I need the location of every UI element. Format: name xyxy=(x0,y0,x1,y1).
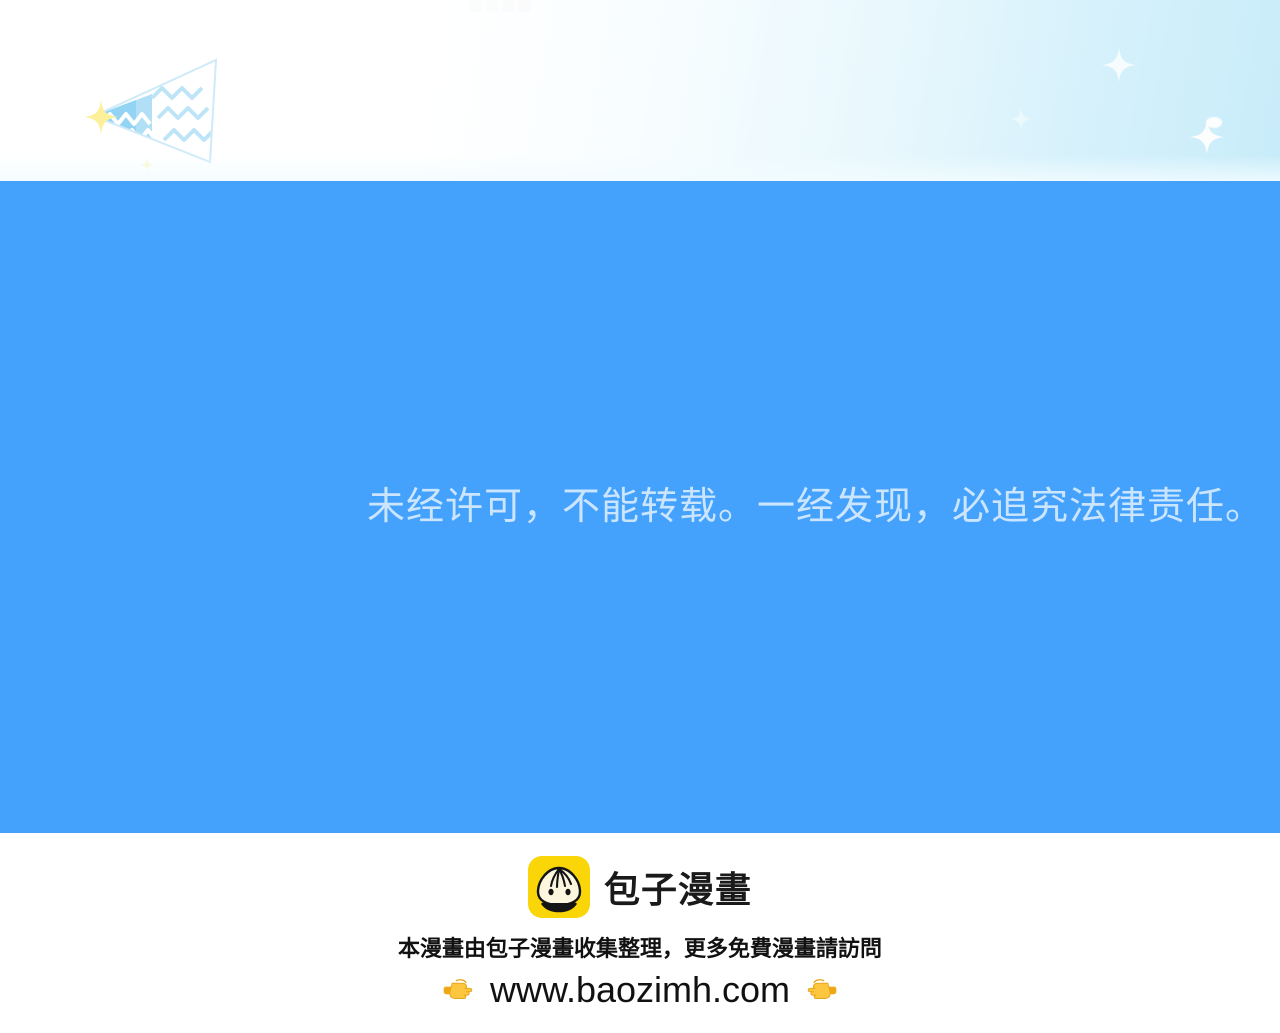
copyright-watermark-text: 未经许可，不能转载。一经发现，必追究法律责任。 xyxy=(367,488,1264,526)
copyright-watermark: 未经许可，不能转载。一经发现，必追究法律责任。 xyxy=(0,181,1280,833)
brand-name: 包子漫畫 xyxy=(604,861,752,913)
top-banner xyxy=(0,0,1280,181)
footer-url-text[interactable]: www.baozimh.com xyxy=(490,969,790,1011)
pointing-hand-right-icon xyxy=(442,975,476,1005)
footer-notice: 本漫畫由包子漫畫收集整理，更多免費漫畫請訪問 xyxy=(398,931,882,963)
baozi-bun-icon xyxy=(528,856,590,918)
banner-bottom-fade xyxy=(0,155,1280,181)
site-footer: 包子漫畫 本漫畫由包子漫畫收集整理，更多免費漫畫請訪問 www.baozimh.… xyxy=(0,833,1280,1033)
footer-url-row[interactable]: www.baozimh.com xyxy=(442,969,838,1011)
pennant-ornament xyxy=(78,58,218,168)
pointing-hand-left-icon xyxy=(804,975,838,1005)
top-cropped-glyphs xyxy=(470,0,540,12)
comic-page: 未经许可，不能转载。一经发现，必追究法律责任。 xyxy=(0,0,1280,1033)
sparkle-white-faint-icon xyxy=(1010,108,1032,130)
comic-panel: 未经许可，不能转载。一经发现，必追究法律责任。 xyxy=(0,181,1280,833)
sparkle-dot xyxy=(1206,117,1222,128)
brand-row: 包子漫畫 xyxy=(528,851,752,923)
sparkle-white-left-icon xyxy=(1102,48,1136,82)
